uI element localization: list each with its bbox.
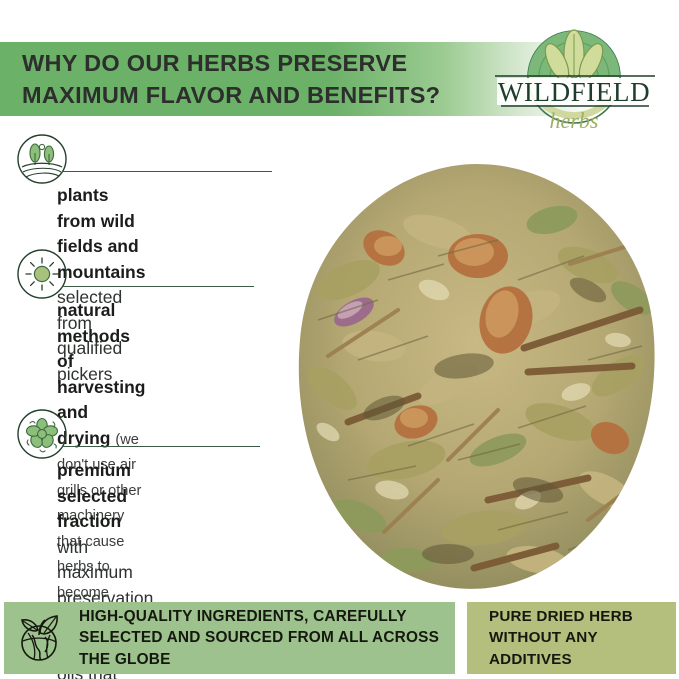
banner-global-sourcing: HIGH-QUALITY INGREDIENTS, CAREFULLY SELE…	[4, 602, 455, 674]
feature-bold-text: premium selected fraction	[57, 460, 131, 531]
logo-brand-text: WILDFIELD	[498, 77, 650, 107]
feature-divider	[62, 171, 272, 172]
banner-text: PURE DRIED HERB WITHOUT ANY ADDITIVES	[489, 606, 676, 671]
feature-bold-text: natural methods of harvesting and drying	[57, 300, 146, 448]
sun-icon	[16, 248, 68, 300]
logo-tagline-text: herbs	[550, 108, 599, 133]
feature-divider	[62, 446, 260, 447]
page-title: WHY DO OUR HERBS PRESERVE MAXIMUM FLAVOR…	[22, 47, 492, 111]
infographic-page: WHY DO OUR HERBS PRESERVE MAXIMUM FLAVOR…	[0, 0, 679, 679]
feature-divider	[62, 286, 254, 287]
dried-herbs-photo	[288, 160, 666, 592]
feature-bold-text: plants from wild fields and mountains	[57, 185, 145, 282]
banner-text: HIGH-QUALITY INGREDIENTS, CAREFULLY SELE…	[79, 606, 455, 671]
flower-icon	[16, 408, 68, 460]
brand-logo: WILDFIELD herbs	[487, 18, 662, 136]
globe-leaf-icon	[14, 611, 68, 665]
banner-pure-herb: PURE DRIED HERB WITHOUT ANY ADDITIVES	[467, 602, 676, 674]
field-plants-icon	[16, 133, 68, 185]
